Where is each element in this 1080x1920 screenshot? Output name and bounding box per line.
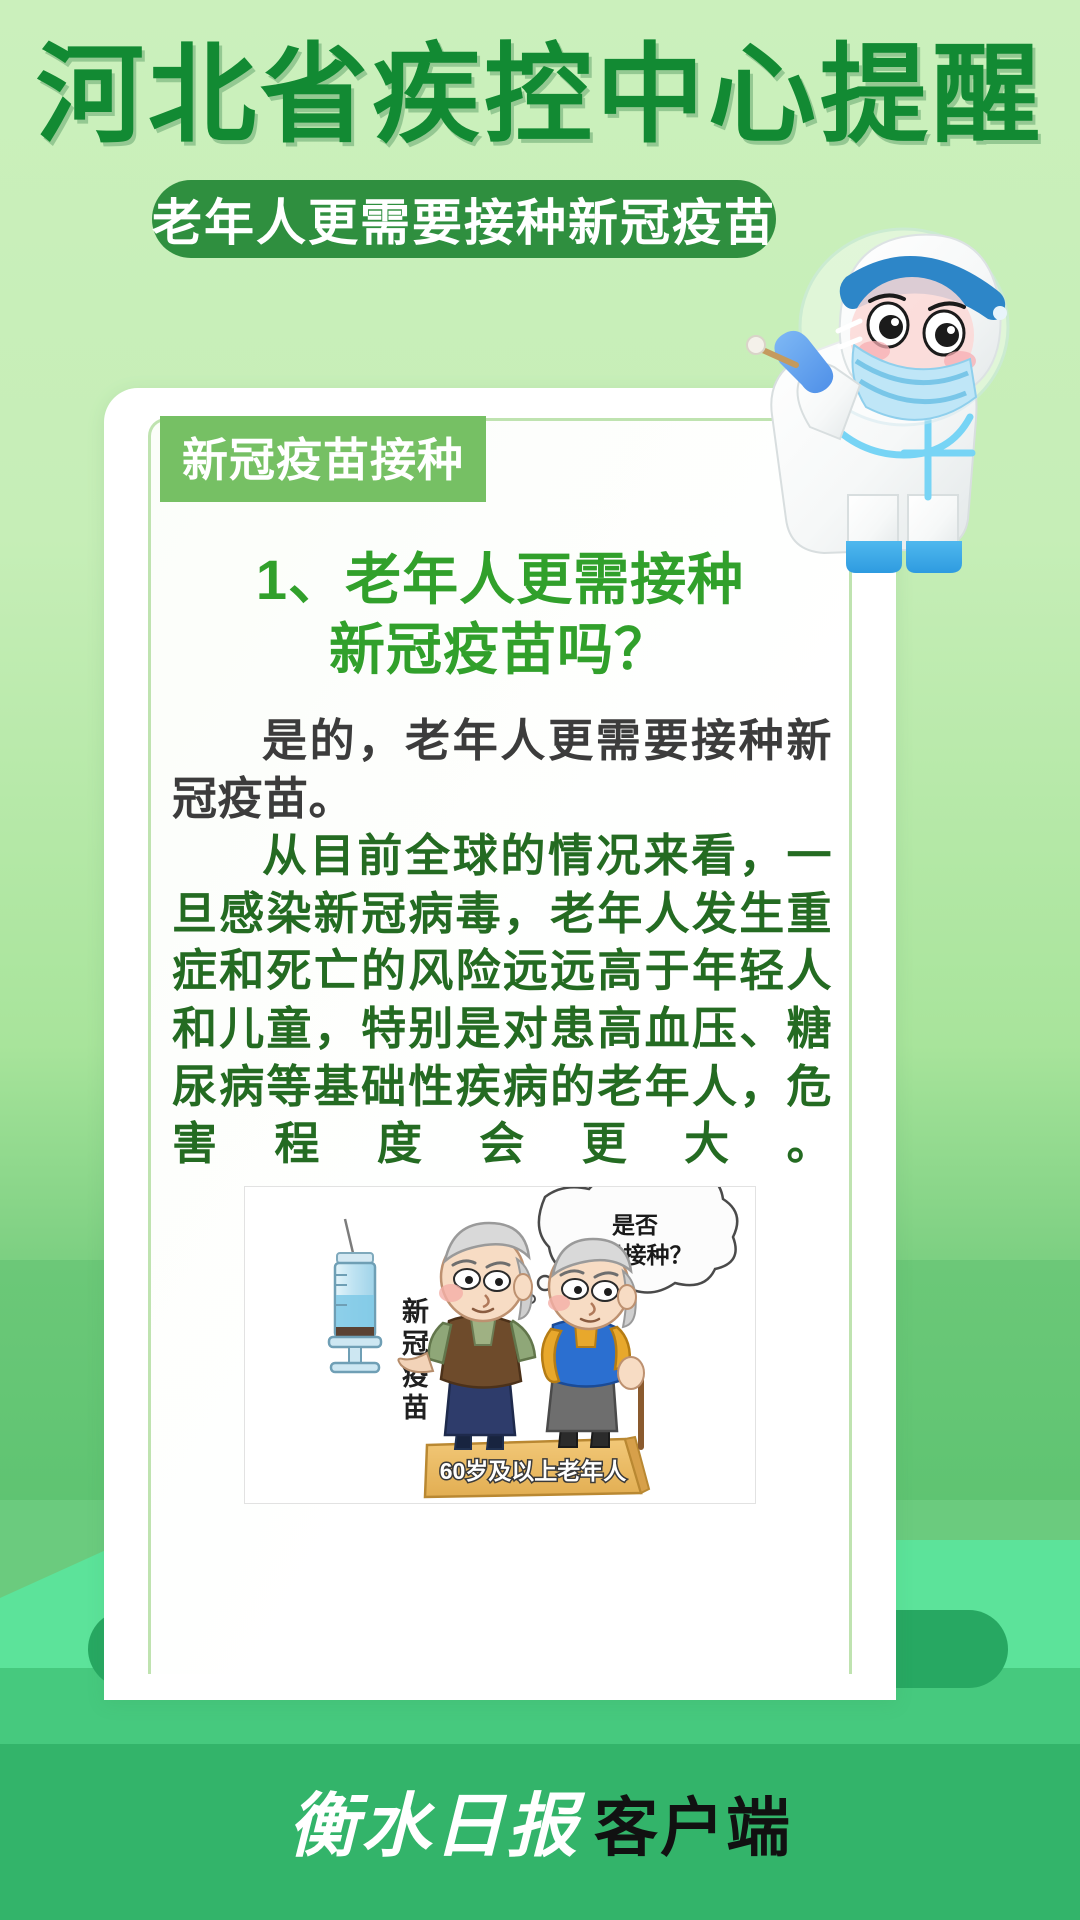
- subtitle-text: 老年人更需要接种新冠疫苗: [152, 183, 776, 255]
- subtitle-pill: 老年人更需要接种新冠疫苗: [152, 180, 776, 258]
- page-title: 河北省疾控中心提醒: [0, 30, 1080, 162]
- poster-canvas: 河北省疾控中心提醒 老年人更需要接种新冠疫苗: [0, 0, 1080, 1920]
- brand-main-text: 衡水日报: [288, 1784, 580, 1867]
- question-heading: 1、老年人更需接种 新冠疫苗吗？: [150, 545, 850, 685]
- cartoon-illustration: 新冠疫苗 是否 可以接种？ 60岁及以上老年人: [244, 1186, 756, 1504]
- thought-line-1: 是否: [612, 1212, 658, 1238]
- section-tag-label: 新冠疫苗接种: [182, 434, 464, 486]
- platform-label: 60岁及以上老年人: [440, 1458, 628, 1484]
- footer-brand: 衡水日报客户端: [0, 1770, 1080, 1871]
- body-paragraph-2: 从目前全球的情况来看，一旦感染新冠病毒，老年人发生重症和死亡的风险远远高于年轻人…: [172, 827, 832, 1173]
- brand-suffix-text: 客户端: [594, 1792, 792, 1864]
- section-tag: 新冠疫苗接种: [160, 416, 486, 502]
- question-heading-line2: 新冠疫苗吗？: [150, 615, 850, 685]
- question-heading-line1: 1、老年人更需接种: [150, 545, 850, 615]
- body-paragraph-1: 是的，老年人更需要接种新冠疫苗。: [172, 712, 832, 827]
- body-text-block: 是的，老年人更需要接种新冠疫苗。 从目前全球的情况来看，一旦感染新冠病毒，老年人…: [172, 712, 832, 1173]
